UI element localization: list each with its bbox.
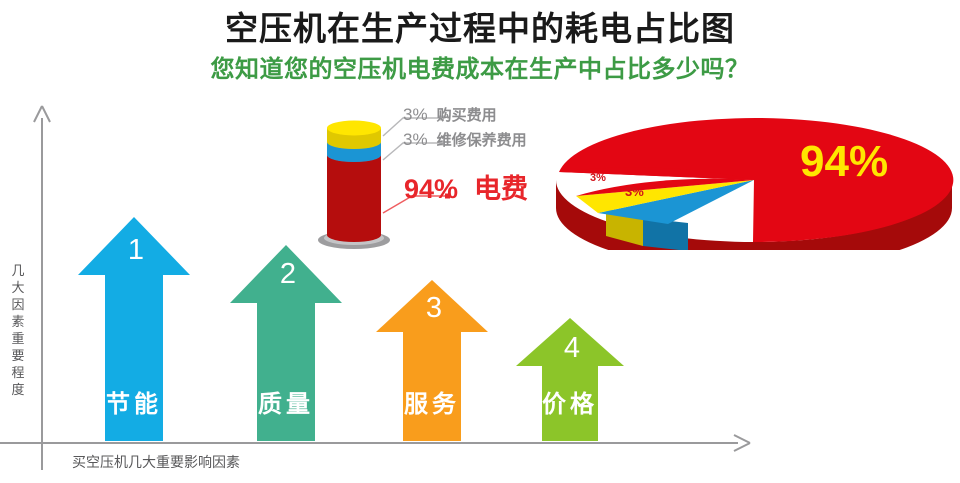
arrow-caption-3: 服务: [376, 384, 488, 419]
pie-label-purchase: 3%: [590, 172, 606, 184]
y-axis-label-char: 大: [8, 279, 28, 296]
x-axis-label: 买空压机几大重要影响因素: [72, 452, 240, 472]
pie-label-electricity: 94%: [800, 137, 888, 187]
arrow-reflection-4: [542, 426, 598, 435]
y-axis-label-char: 重: [8, 330, 28, 347]
callout-electricity-cost: 94%电费: [404, 167, 528, 206]
pie-label-maintenance: 3%: [625, 184, 644, 199]
infographic-canvas: 空压机在生产过程中的耗电占比图 您知道您的空压机电费成本在生产中占比多少吗？ 几…: [0, 0, 960, 483]
y-axis-label-char: 因: [8, 296, 28, 313]
arrow-caption-1: 节能: [78, 384, 190, 419]
arrow-reflection-2: [257, 426, 315, 435]
callout-purchase-cost: 3%购买费用: [403, 104, 497, 125]
cylinder-shape-icon: [302, 118, 406, 250]
y-axis-label: 几 大 因 素 重 要 程 度: [8, 262, 28, 398]
arrow-rank-3: 3: [414, 292, 454, 325]
arrow-caption-4: 价格: [516, 384, 624, 419]
callout-percent: 3%: [403, 130, 428, 149]
y-axis-label-char: 要: [8, 347, 28, 364]
callout-percent: 3%: [403, 105, 428, 124]
pie-chart-3d: [548, 108, 960, 250]
page-title: 空压机在生产过程中的耗电占比图: [0, 2, 960, 50]
callout-label: 购买费用: [437, 107, 497, 124]
y-axis-label-char: 度: [8, 381, 28, 398]
page-subtitle: 您知道您的空压机电费成本在生产中占比多少吗？: [0, 49, 960, 84]
callout-label: 维修保养费用: [437, 132, 527, 149]
y-axis-label-char: 程: [8, 364, 28, 381]
arrow-rank-2: 2: [268, 258, 308, 291]
cylinder-stacked-bar: [302, 118, 406, 250]
callout-maintenance-cost: 3%维修保养费用: [403, 129, 527, 150]
y-axis-label-char: 几: [8, 262, 28, 279]
arrow-rank-1: 1: [116, 234, 156, 267]
arrow-reflection-1: [105, 426, 163, 435]
pie-shape-icon: [548, 108, 960, 250]
arrow-reflection-3: [403, 426, 461, 435]
arrow-caption-2: 质量: [230, 384, 342, 419]
y-axis-label-char: 素: [8, 313, 28, 330]
callout-percent: 94%: [404, 174, 458, 204]
arrow-rank-4: 4: [552, 332, 592, 365]
callout-label: 电费: [474, 174, 528, 204]
